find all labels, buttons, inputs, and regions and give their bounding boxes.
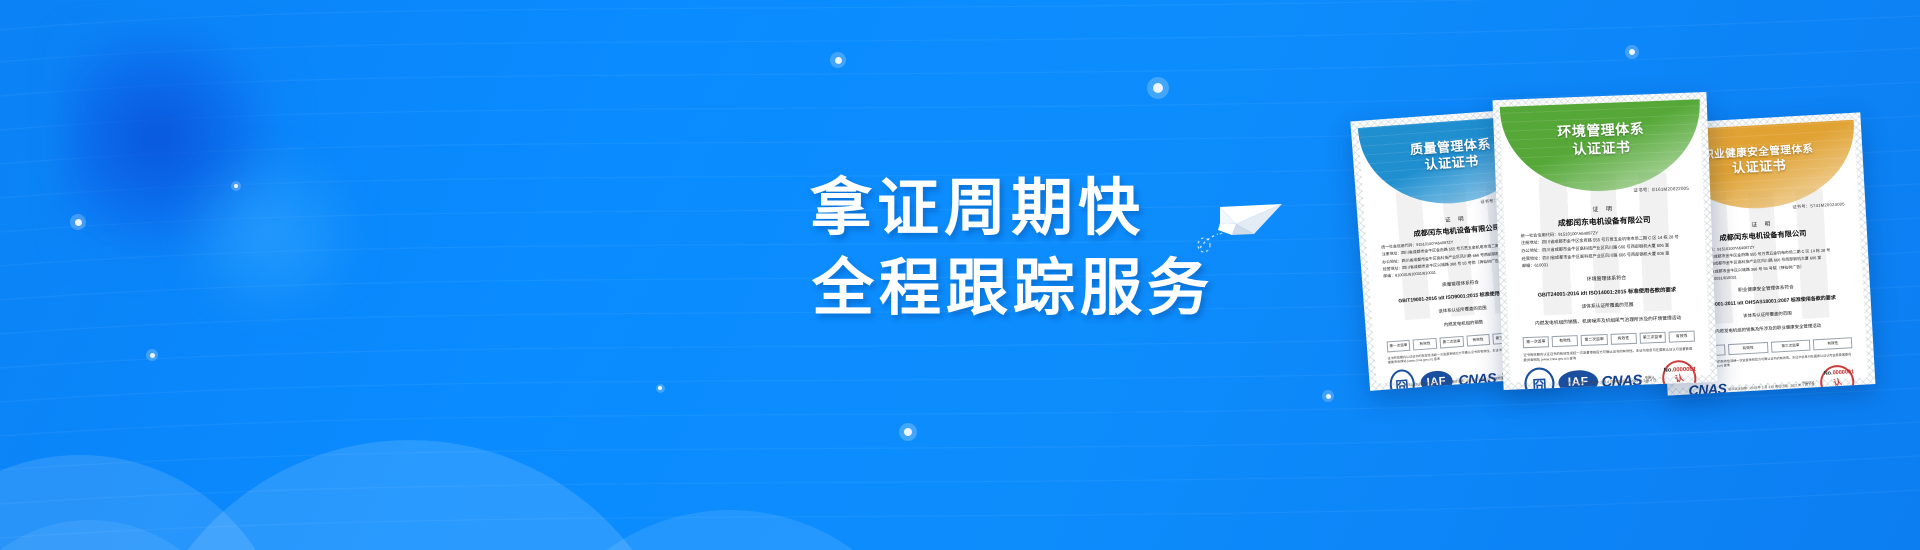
certificate-audit-box: 有效性 — [1813, 337, 1853, 350]
certificate-audit-box: 有效性 — [1413, 338, 1437, 351]
certificate-detail-lines: 统一社会信用代码：91510100*A64087ZY注册地址：四川省成都市金牛区… — [1521, 227, 1690, 272]
certificate-audit-box: 有效性 — [1466, 334, 1490, 347]
decorative-dot — [1625, 45, 1639, 59]
headline-line-2: 全程跟踪服务 — [810, 248, 1330, 328]
certificate-group: 质量管理体系认证证书证书号：CT01M20012005证 明成都闰东电机设备有限… — [1360, 96, 1920, 486]
certificate-number: 证书号：E161M20022005 — [1633, 186, 1689, 194]
decorative-dot — [146, 349, 158, 361]
background-glow-blob-secondary — [180, 150, 360, 320]
decorative-dot — [830, 52, 846, 68]
decorative-dot — [656, 384, 665, 393]
certificate-audit-boxes: 第一次监审有效性第二次监审有效性第三次监审有效性 — [1523, 331, 1695, 349]
certificate-body: 环境管理体系认证证书证书号：E161M20022005证 明成都闰东电机设备有限… — [1500, 99, 1710, 382]
certificate-serial: No.0000001 — [1663, 366, 1696, 373]
certificate-audit-box: 第一次监审 — [1386, 340, 1410, 353]
certificate-audit-box: 第三次监审 — [1770, 339, 1810, 352]
certificate-header: 环境管理体系认证证书 — [1500, 99, 1703, 195]
certificate-audit-box: 有效性 — [1552, 335, 1579, 347]
certificate-audit-box: 第二次监审 — [1439, 336, 1463, 349]
hero-banner: 拿证周期快 全程跟踪服务 质量管理体系认证证书证书号：CT01M20012005… — [0, 0, 1920, 550]
certificate-audit-box: 第三次监审 — [1639, 332, 1666, 344]
background-circle — [130, 440, 690, 550]
decorative-dot — [899, 423, 917, 441]
decorative-dot — [1322, 390, 1334, 402]
certificate-scope: 内燃发电机组的销售、机房噪声及机组尾气治理所涉及的环境管理活动 — [1508, 314, 1708, 328]
decorative-dot — [1147, 77, 1169, 99]
certificate-audit-box: 有效性 — [1668, 331, 1695, 343]
certificate-title-line-2: 认证证书 — [1732, 159, 1787, 178]
certificate-red-seal: 认 — [1817, 361, 1859, 396]
certificate-audit-box: 第二次监审 — [1581, 334, 1608, 346]
certificate-audit-box: 有效性 — [1728, 342, 1768, 355]
certificate-title-line-2: 认证证书 — [1572, 140, 1631, 159]
certificate-audit-box: 有效性 — [1610, 333, 1637, 345]
paper-plane-icon — [1196, 190, 1286, 254]
certificate-environment[interactable]: 环境管理体系认证证书证书号：E161M20022005证 明成都闰东电机设备有限… — [1493, 92, 1718, 390]
certificate-audit-box: 第一次监审 — [1523, 336, 1550, 348]
certificate-title-line-1: 环境管理体系 — [1557, 122, 1645, 143]
